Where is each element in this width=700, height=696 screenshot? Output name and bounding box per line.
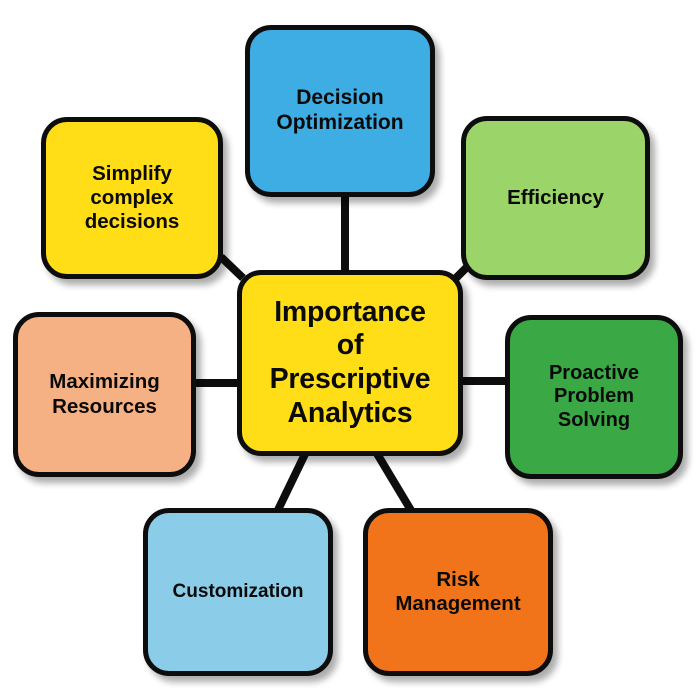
node-maximizing-resources-label: Maximizing Resources [49, 370, 160, 418]
node-decision-optimization[interactable]: Decision Optimization [245, 25, 435, 197]
connector-center-to-customization [277, 452, 306, 512]
node-customization[interactable]: Customization [143, 508, 333, 676]
node-efficiency-label: Efficiency [507, 186, 604, 210]
node-center-importance-of-prescriptive-analytics[interactable]: Importance of Prescriptive Analytics [237, 270, 463, 456]
node-simplify-complex-decisions-label: Simplify complex decisions [85, 162, 180, 235]
node-risk-management-label: Risk Management [395, 568, 520, 616]
mind-map-diagram: Importance of Prescriptive Analytics Dec… [0, 0, 700, 696]
connector-center-to-risk [376, 452, 412, 512]
node-simplify-complex-decisions[interactable]: Simplify complex decisions [41, 117, 223, 279]
node-proactive-problem-solving-label: Proactive Problem Solving [549, 362, 639, 433]
node-risk-management[interactable]: Risk Management [363, 508, 553, 676]
node-proactive-problem-solving[interactable]: Proactive Problem Solving [505, 315, 683, 479]
connector-center-to-simplify [221, 257, 243, 278]
node-decision-optimization-label: Decision Optimization [276, 86, 403, 136]
node-center-label: Importance of Prescriptive Analytics [270, 296, 431, 431]
node-customization-label: Customization [173, 581, 304, 603]
node-maximizing-resources[interactable]: Maximizing Resources [13, 312, 196, 477]
node-efficiency[interactable]: Efficiency [461, 116, 650, 280]
